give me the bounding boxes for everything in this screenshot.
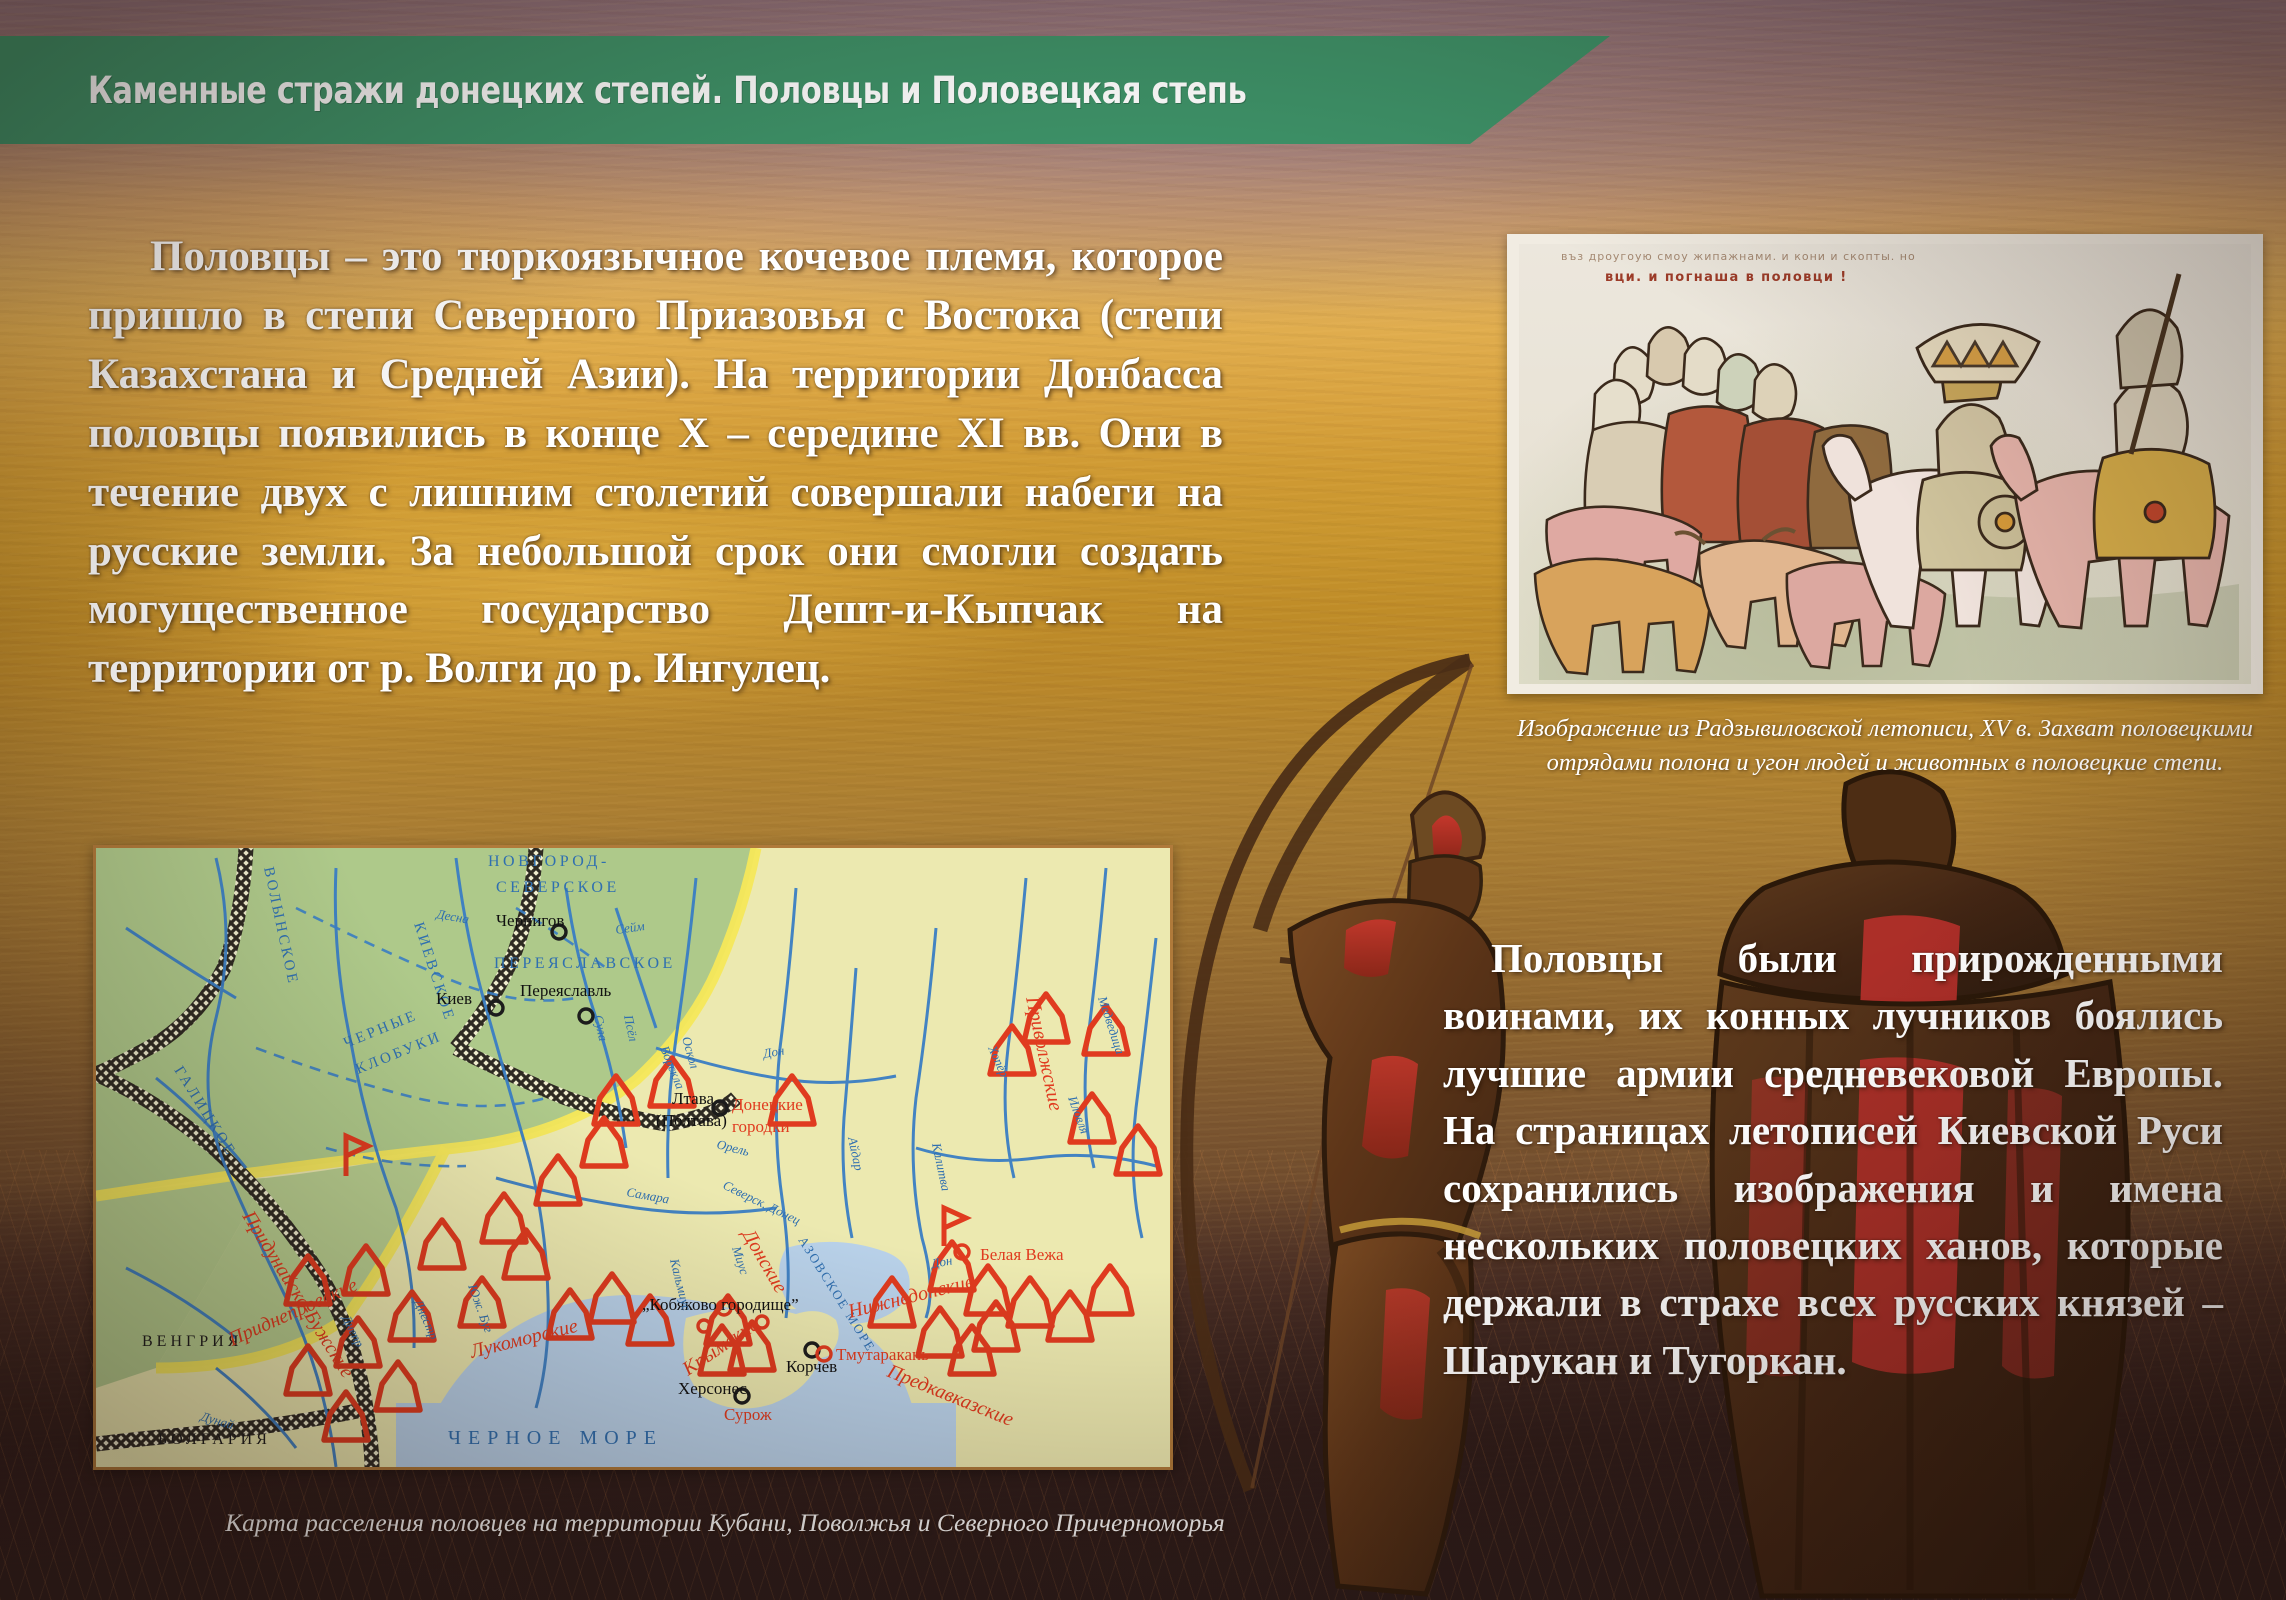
vignette-overlay — [0, 0, 2286, 1600]
slide-root: Каменные стражи донецких степей. Половцы… — [0, 0, 2286, 1600]
